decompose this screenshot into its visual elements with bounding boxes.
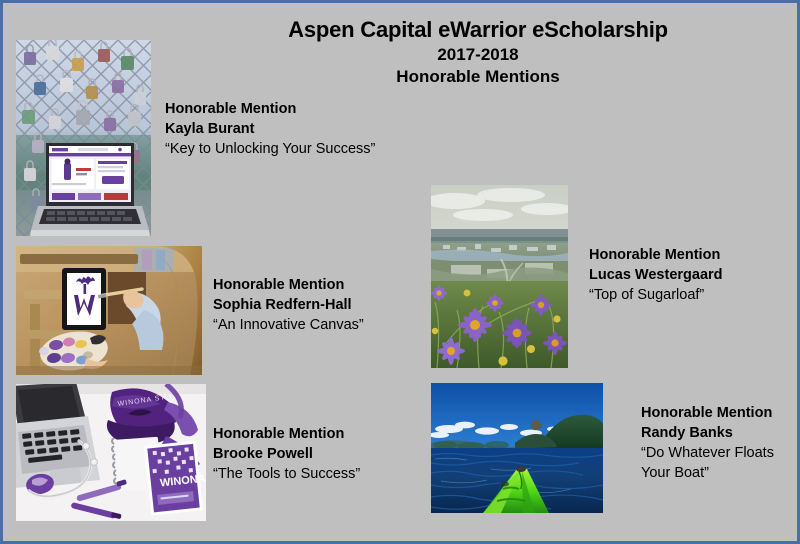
caption-randy-banks: Honorable Mention Randy Banks “Do Whatev…	[641, 403, 774, 483]
caption-role: Honorable Mention	[165, 99, 375, 119]
caption-name: Kayla Burant	[165, 119, 375, 139]
caption-lucas-westergaard: Honorable Mention Lucas Westergaard “Top…	[589, 245, 723, 305]
caption-role: Honorable Mention	[641, 403, 774, 423]
title-line-years: 2017-2018	[183, 44, 773, 66]
caption-quote: “Do Whatever Floats Your Boat”	[641, 443, 774, 483]
caption-name: Brooke Powell	[213, 444, 360, 464]
caption-quote: “Top of Sugarloaf”	[589, 285, 723, 305]
laptop-cap-flatlay-photo: WINONA STATE	[16, 384, 206, 521]
caption-name: Randy Banks	[641, 423, 774, 443]
art-student-tablet-illustration	[16, 246, 202, 375]
sugarloaf-overlook-illustration	[431, 185, 568, 368]
caption-name: Lucas Westergaard	[589, 265, 723, 285]
poster-page: Aspen Capital eWarrior eScholarship 2017…	[0, 0, 800, 544]
caption-quote: “Key to Unlocking Your Success”	[165, 139, 375, 159]
art-student-tablet-photo	[16, 246, 202, 375]
caption-role: Honorable Mention	[213, 424, 360, 444]
caption-sophia-redfern-hall: Honorable Mention Sophia Redfern-Hall “A…	[213, 275, 364, 335]
page-title: Aspen Capital eWarrior eScholarship 2017…	[183, 17, 773, 89]
laptop-cap-flatlay-illustration: WINONA STATE	[16, 384, 206, 521]
caption-quote: “The Tools to Success”	[213, 464, 360, 484]
caption-name: Sophia Redfern-Hall	[213, 295, 364, 315]
caption-kayla-burant: Honorable Mention Kayla Burant “Key to U…	[165, 99, 375, 159]
padlocks-fence-laptop-photo	[16, 40, 151, 236]
title-line-subtitle: Honorable Mentions	[183, 66, 773, 88]
padlocks-fence-laptop-illustration	[16, 40, 151, 236]
sugarloaf-overlook-photo	[431, 185, 568, 368]
title-line-primary: Aspen Capital eWarrior eScholarship	[183, 17, 773, 44]
green-kayak-lake-illustration	[431, 383, 603, 513]
caption-role: Honorable Mention	[589, 245, 723, 265]
caption-quote: “An Innovative Canvas”	[213, 315, 364, 335]
caption-role: Honorable Mention	[213, 275, 364, 295]
caption-brooke-powell: Honorable Mention Brooke Powell “The Too…	[213, 424, 360, 484]
green-kayak-lake-photo	[431, 383, 603, 513]
